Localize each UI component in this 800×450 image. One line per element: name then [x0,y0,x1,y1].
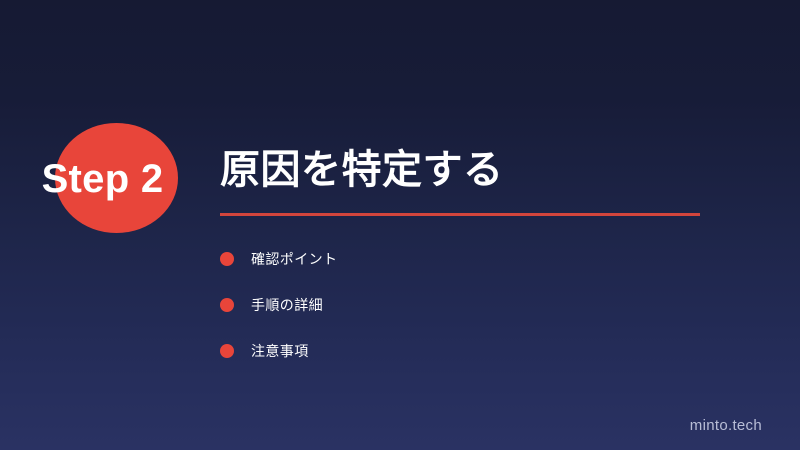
presentation-slide: Step 2 原因を特定する 確認ポイント 手順の詳細 注意事項 minto.t… [0,0,800,450]
slide-content: 原因を特定する 確認ポイント 手順の詳細 注意事項 [220,145,780,390]
list-item-label: 手順の詳細 [251,295,323,315]
bullet-dot-icon [220,298,234,312]
footer-watermark: minto.tech [690,417,762,434]
list-item-label: 確認ポイント [251,249,337,269]
list-item: 確認ポイント [220,236,780,282]
page-title: 原因を特定する [220,145,780,195]
list-item: 手順の詳細 [220,282,780,328]
step-badge: Step 2 [0,120,215,238]
bullet-list: 確認ポイント 手順の詳細 注意事項 [220,236,780,374]
step-label: Step 2 [0,120,205,238]
list-item: 注意事項 [220,328,780,374]
list-item-label: 注意事項 [251,341,309,361]
bullet-dot-icon [220,344,234,358]
bullet-dot-icon [220,252,234,266]
title-divider [220,213,700,216]
